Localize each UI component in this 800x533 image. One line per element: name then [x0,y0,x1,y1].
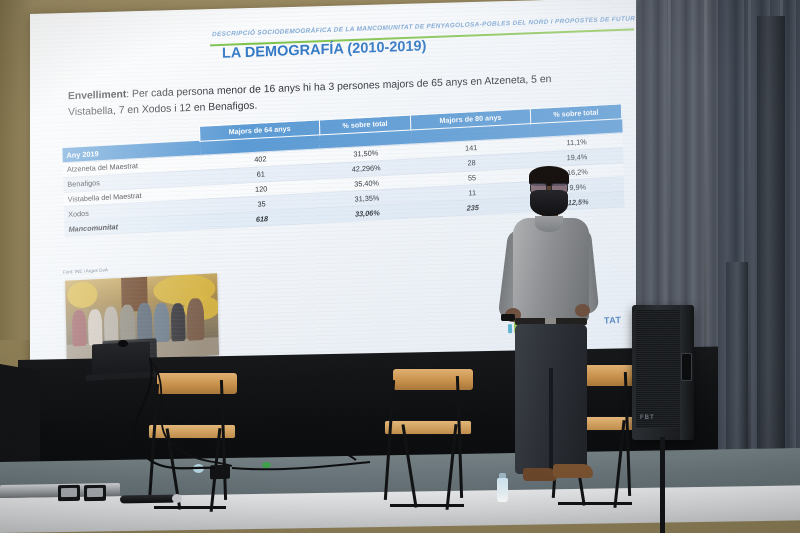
trouser-leg-split [549,368,553,474]
presenter-left-shoe [523,468,557,481]
presenter-right-shoe [553,464,593,478]
uji-logo-text: TAT [604,315,622,326]
presentation-room-photo: DESCRIPCIÓ SOCIODEMOGRÀFICA DE LA MANCOM… [0,0,800,533]
slide-eyebrow: DESCRIPCIÓ SOCIODEMOGRÀFICA DE LA MANCOM… [212,16,632,39]
green-indicator-light [262,462,271,468]
wall-left-edge [0,0,34,340]
microphone-capsule [172,494,182,503]
pa-speaker: FBT [632,305,694,440]
presentation-clicker [501,314,515,321]
floor-pedal-unit [210,465,230,480]
speaker-stand-pole [660,437,665,533]
presenter-person [505,168,597,500]
speaker-brand-badge: FBT [640,415,655,421]
laptop-camera-icon [118,340,128,347]
vertical-post-right [757,16,785,486]
small-blue-object [193,464,204,473]
flight-case-latch [84,485,106,501]
hand-sanitizer-bottle [497,478,508,502]
flight-case-latch [58,485,80,501]
table-source-note: Font: INE i Argos GvA [63,267,108,274]
handheld-microphone [120,495,176,504]
presenter-right-hand [575,304,590,317]
face-mask [530,190,568,216]
sweater-collar [535,216,563,232]
slide-body-lead: Envelliment [68,89,126,102]
speaker-grill [636,310,680,428]
speaker-handle [681,353,692,381]
